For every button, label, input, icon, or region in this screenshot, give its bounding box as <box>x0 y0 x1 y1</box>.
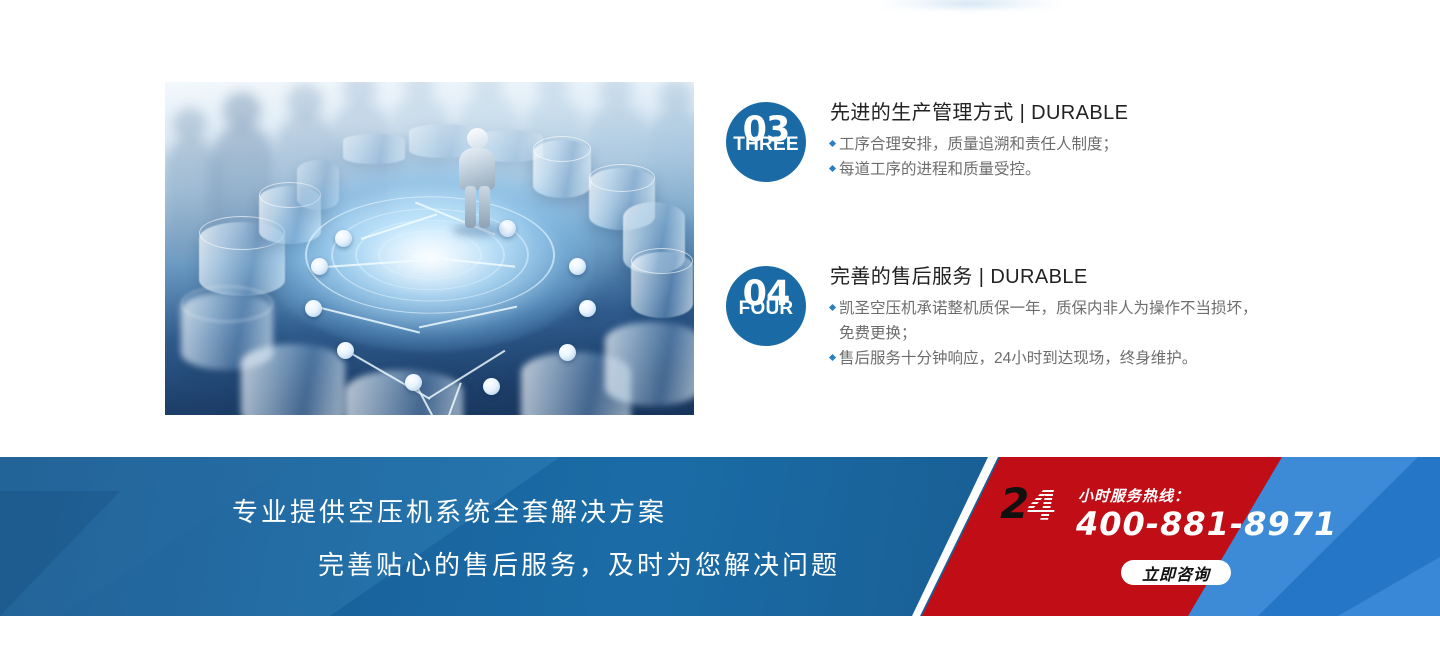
top-edge-smudge <box>880 0 1060 8</box>
feature-text-04: 完善的售后服务 | DURABLE 凯圣空压机承诺整机质保一年，质保内非人为操作… <box>830 260 1266 371</box>
network-people-illustration <box>165 82 694 415</box>
feature-title-cn: 先进的生产管理方式 <box>830 102 1014 124</box>
banner-headline-line1: 专业提供空压机系统全套解决方案 <box>0 492 930 529</box>
diamond-bullet-icon <box>829 165 836 172</box>
network-node <box>305 300 322 317</box>
feature-bullet: 工序合理安排，质量追溯和责任人制度； <box>830 132 1128 157</box>
feature-list: 03 THREE 先进的生产管理方式 | DURABLE 工序合理安排，质量追溯… <box>726 96 1266 371</box>
consult-now-button[interactable]: 立即咨询 <box>1121 560 1231 585</box>
feature-text-03: 先进的生产管理方式 | DURABLE 工序合理安排，质量追溯和责任人制度； 每… <box>830 96 1128 182</box>
network-node <box>311 258 328 275</box>
feature-title-03: 先进的生产管理方式 | DURABLE <box>830 96 1128 125</box>
diamond-bullet-icon <box>829 140 836 147</box>
hotline-number[interactable]: 400-881-8971 <box>1076 505 1337 543</box>
badge-word: FOUR <box>726 299 806 318</box>
hotline-block: 2 4 小时服务热线： 400-881-8971 立即咨询 <box>1000 483 1270 593</box>
diamond-bullet-icon <box>829 304 836 311</box>
feature-bullet-text: 凯圣空压机承诺整机质保一年，质保内非人为操作不当损坏，免费更换； <box>839 296 1266 346</box>
feature-title-en: DURABLE <box>990 266 1087 288</box>
feature-title-separator: | <box>1014 102 1032 124</box>
banner-headline-line2: 完善贴心的售后服务，及时为您解决问题 <box>0 545 930 582</box>
bottom-cta-banner: 专业提供空压机系统全套解决方案 完善贴心的售后服务，及时为您解决问题 2 4 小… <box>0 457 1440 616</box>
network-node <box>569 258 586 275</box>
feature-badge-03: 03 THREE <box>726 102 806 182</box>
network-node <box>405 374 422 391</box>
central-person-figure <box>456 128 498 228</box>
feature-bullet-text: 工序合理安排，质量追溯和责任人制度； <box>839 132 1128 157</box>
diamond-bullet-icon <box>829 354 836 361</box>
network-node <box>483 378 500 395</box>
feature-bullet: 每道工序的进程和质量受控。 <box>830 157 1128 182</box>
network-node <box>579 300 596 317</box>
banner-headline: 专业提供空压机系统全套解决方案 完善贴心的售后服务，及时为您解决问题 <box>0 457 930 616</box>
logo-digit-2: 2 <box>1000 483 1029 525</box>
logo-digit-4: 4 <box>1027 484 1058 528</box>
feature-bullet: 凯圣空压机承诺整机质保一年，质保内非人为操作不当损坏，免费更换； <box>830 296 1266 346</box>
badge-word: THREE <box>726 135 806 154</box>
feature-title-separator: | <box>973 266 991 288</box>
feature-item-04: 04 FOUR 完善的售后服务 | DURABLE 凯圣空压机承诺整机质保一年，… <box>726 260 1266 371</box>
network-node <box>337 342 354 359</box>
feature-item-03: 03 THREE 先进的生产管理方式 | DURABLE 工序合理安排，质量追溯… <box>726 96 1266 182</box>
feature-title-cn: 完善的售后服务 <box>830 266 973 288</box>
feature-badge-04: 04 FOUR <box>726 266 806 346</box>
feature-title-en: DURABLE <box>1031 102 1128 124</box>
feature-bullet: 售后服务十分钟响应，24小时到达现场，终身维护。 <box>830 346 1266 371</box>
network-node <box>559 344 576 361</box>
feature-bullet-text: 售后服务十分钟响应，24小时到达现场，终身维护。 <box>839 346 1266 371</box>
feature-bullet-text: 每道工序的进程和质量受控。 <box>839 157 1128 182</box>
network-node <box>335 230 352 247</box>
24-hours-logo-icon: 2 4 <box>1000 485 1072 531</box>
feature-title-04: 完善的售后服务 | DURABLE <box>830 260 1266 289</box>
hotline-label: 小时服务热线： <box>1078 485 1190 506</box>
